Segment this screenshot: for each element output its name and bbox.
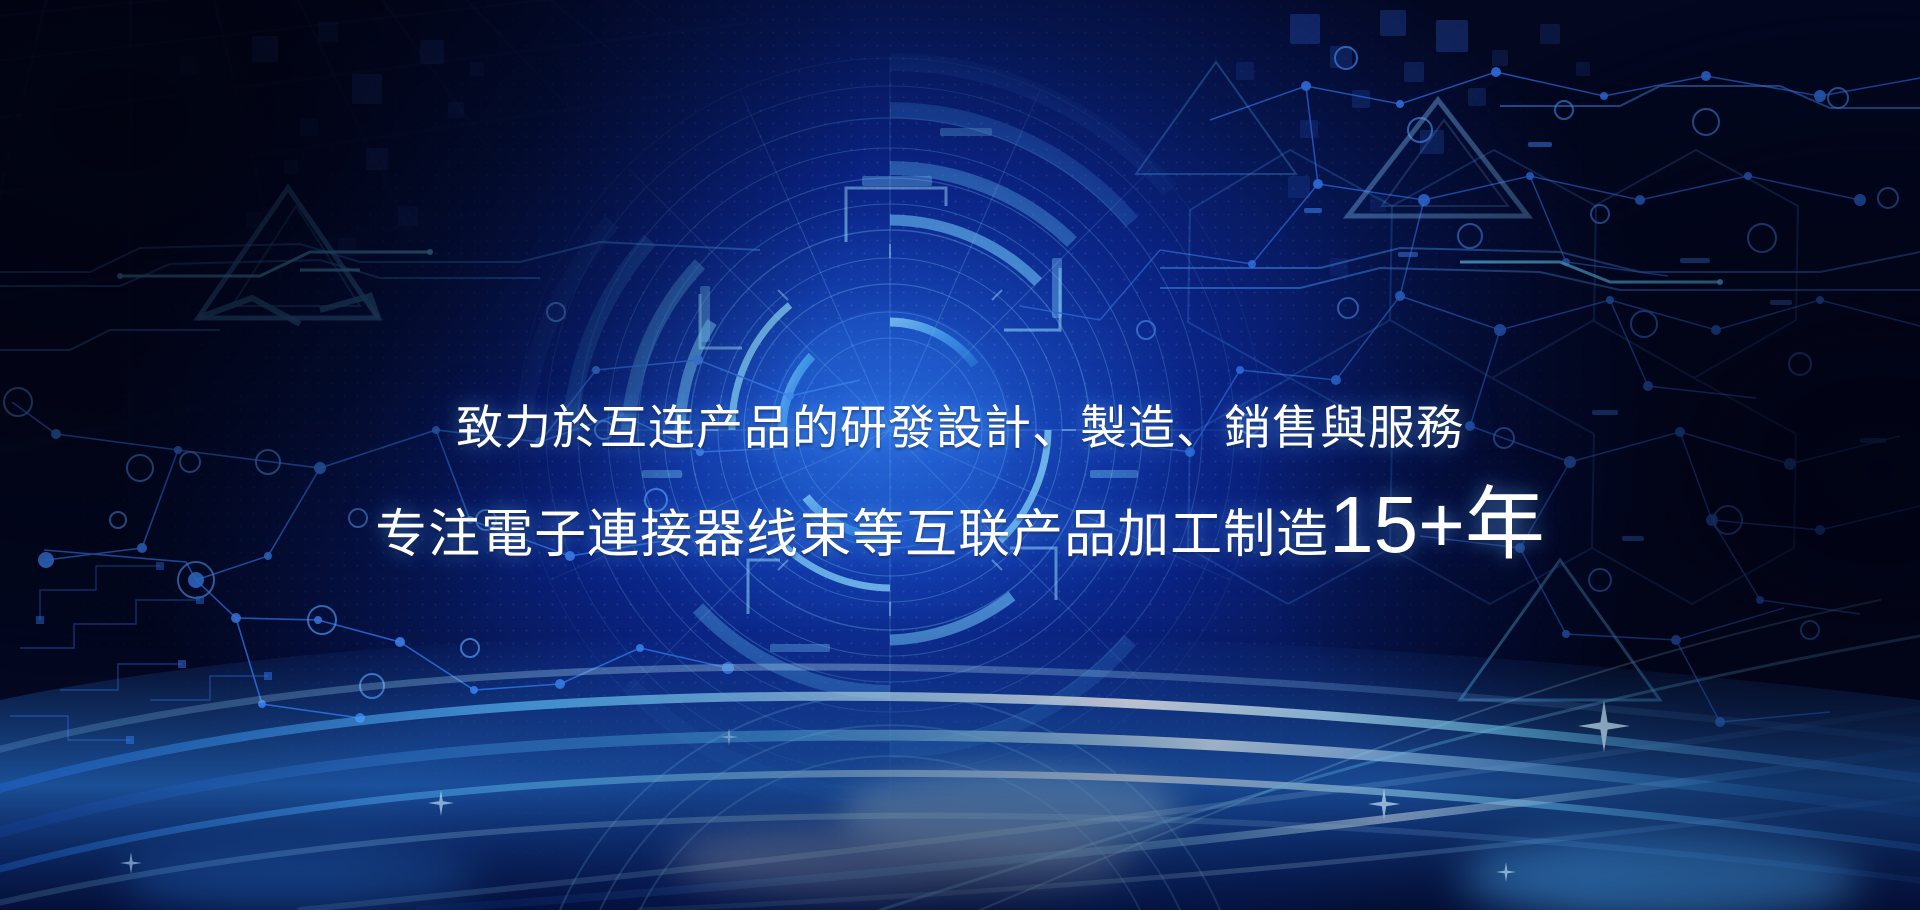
headline-line-2: 专注電子連接器线束等互联产品加工制造 15+年 bbox=[375, 490, 1545, 570]
sparkle-star-icon bbox=[720, 728, 738, 746]
sparkle-star-icon bbox=[1578, 700, 1630, 752]
sparkle-star-icon bbox=[1368, 788, 1400, 820]
headline-years-badge: 15+年 bbox=[1329, 490, 1545, 560]
headline-line-1: 致力於互连产品的研發設計、製造、銷售與服務 bbox=[456, 396, 1464, 460]
sparkle-star-icon bbox=[1496, 862, 1516, 882]
headline-block: 致力於互连产品的研發設計、製造、銷售與服務 专注電子連接器线束等互联产品加工制造… bbox=[0, 396, 1920, 570]
headline-line-2-prefix: 专注電子連接器线束等互联产品加工制造 bbox=[375, 500, 1329, 570]
sparkle-star-icon bbox=[428, 790, 454, 816]
hero-banner: 致力於互连产品的研發設計、製造、銷售與服務 专注電子連接器线束等互联产品加工制造… bbox=[0, 0, 1920, 910]
sparkle-star-icon bbox=[120, 852, 142, 874]
